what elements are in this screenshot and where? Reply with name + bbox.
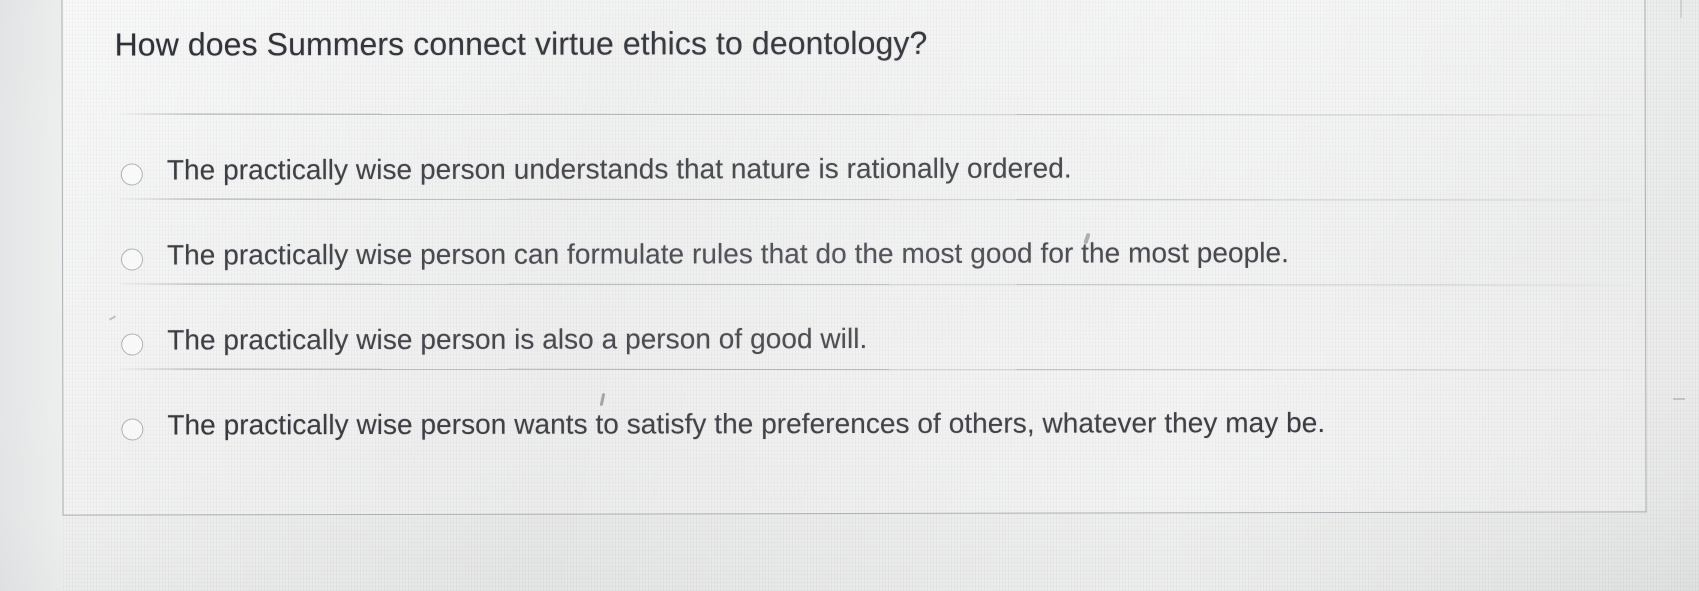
- answer-label-b: The practically wise person can formulat…: [167, 233, 1289, 275]
- radio-button-icon-b[interactable]: [121, 248, 143, 270]
- answer-option-b[interactable]: The practically wise person can formulat…: [63, 195, 1645, 283]
- radio-button-icon-c[interactable]: [121, 333, 143, 355]
- question-card: How does Summers connect virtue ethics t…: [61, 0, 1646, 516]
- answer-option-a[interactable]: The practically wise person understands …: [63, 110, 1645, 198]
- question-title: How does Summers connect virtue ethics t…: [115, 23, 928, 65]
- answer-separator: [119, 114, 1631, 116]
- answer-label-c: The practically wise person is also a pe…: [167, 319, 867, 360]
- answer-option-d[interactable]: The practically wise person wants to sat…: [63, 365, 1645, 453]
- left-margin-strip: [0, 0, 62, 591]
- answer-option-c[interactable]: The practically wise person is also a pe…: [63, 280, 1645, 368]
- answer-separator: [119, 369, 1631, 371]
- radio-button-icon-a[interactable]: [121, 163, 143, 185]
- answer-separator: [119, 284, 1631, 286]
- answer-separator: [119, 199, 1631, 201]
- radio-button-icon-d[interactable]: [121, 418, 143, 440]
- answer-options-list: The practically wise person understands …: [63, 110, 1646, 453]
- answer-label-d: The practically wise person wants to sat…: [167, 403, 1325, 445]
- answer-label-a: The practically wise person understands …: [167, 149, 1072, 191]
